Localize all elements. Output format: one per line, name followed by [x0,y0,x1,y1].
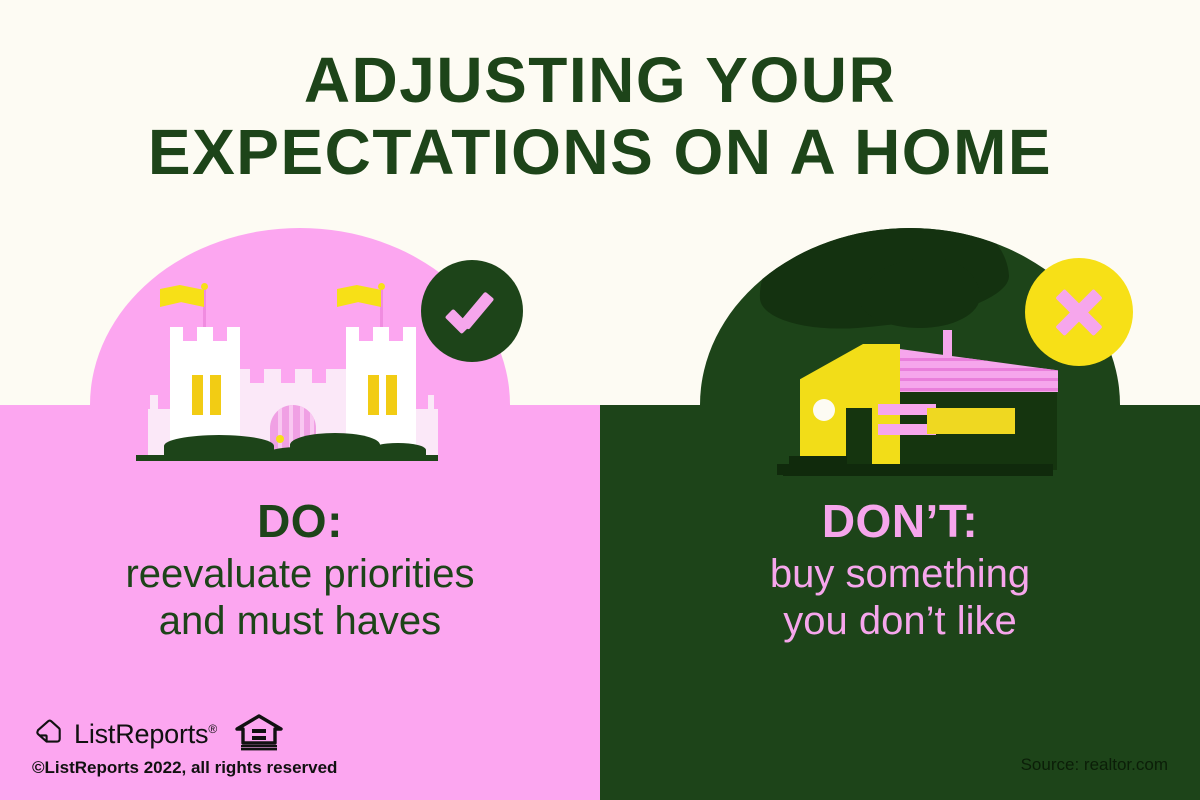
castle-flag-knob-left [201,283,208,290]
castle-flag-knob-right [378,283,385,290]
registered-trademark-icon: ® [208,722,217,736]
check-icon [447,296,497,326]
equal-housing-opportunity-icon [233,712,285,757]
castle-merlon [434,395,440,409]
dont-caption-line-1: buy something [600,551,1200,598]
do-caption-heading: DO: [0,498,600,545]
x-icon [1051,284,1107,340]
dont-caption-body: buy something you don’t like [600,551,1200,645]
infographic-canvas: ADJUSTING YOUR EXPECTATIONS ON A HOME [0,0,1200,800]
castle-flag-left [160,285,204,307]
x-badge [1025,258,1133,366]
castle-merlon [414,395,428,409]
castle-merlon [312,369,326,383]
castle-tower-crenellations [170,327,240,341]
castle-keep-crenellations [236,369,350,383]
dont-caption: DON’T: buy something you don’t like [600,498,1200,645]
castle-flag-right [337,285,381,307]
castle-merlon [389,327,403,341]
dont-caption-heading: DON’T: [600,498,1200,545]
castle-merlon [250,369,264,383]
castle-merlon [281,369,295,383]
do-caption-body: reevaluate priorities and must haves [0,551,600,645]
do-caption: DO: reevaluate priorities and must haves [0,498,600,645]
house-window-yellow [927,408,1015,434]
castle-tower-crenellations [346,327,416,341]
do-caption-line-2: and must haves [0,598,600,645]
brand-name: ListReports® [74,719,217,750]
copyright-text: ©ListReports 2022, all rights reserved [32,758,337,778]
hill-shape [290,433,380,457]
brand-lockup: ListReports® [34,712,285,757]
page-title: ADJUSTING YOUR EXPECTATIONS ON A HOME [0,44,1200,189]
do-caption-line-1: reevaluate priorities [0,551,600,598]
castle-merlon [213,327,227,341]
house-lamp-icon [813,399,835,421]
house-door [846,408,872,470]
hill-shape [164,435,274,457]
house-illustration [775,330,1060,475]
castle-ground-line [136,455,438,461]
castle-merlon [183,327,197,341]
castle-window [210,375,221,415]
house-step-lower [777,464,847,475]
listreports-house-icon [34,717,64,752]
page-title-line-1: ADJUSTING YOUR [0,44,1200,116]
castle-merlon [359,327,373,341]
source-text: Source: realtor.com [1021,755,1168,775]
page-title-line-2: EXPECTATIONS ON A HOME [0,116,1200,188]
castle-window [368,375,379,415]
castle-merlon [144,395,150,409]
castle-illustration [148,285,438,475]
castle-window [386,375,397,415]
castle-window [192,375,203,415]
castle-hills [142,435,444,461]
dont-caption-line-2: you don’t like [600,598,1200,645]
check-badge [421,260,523,362]
